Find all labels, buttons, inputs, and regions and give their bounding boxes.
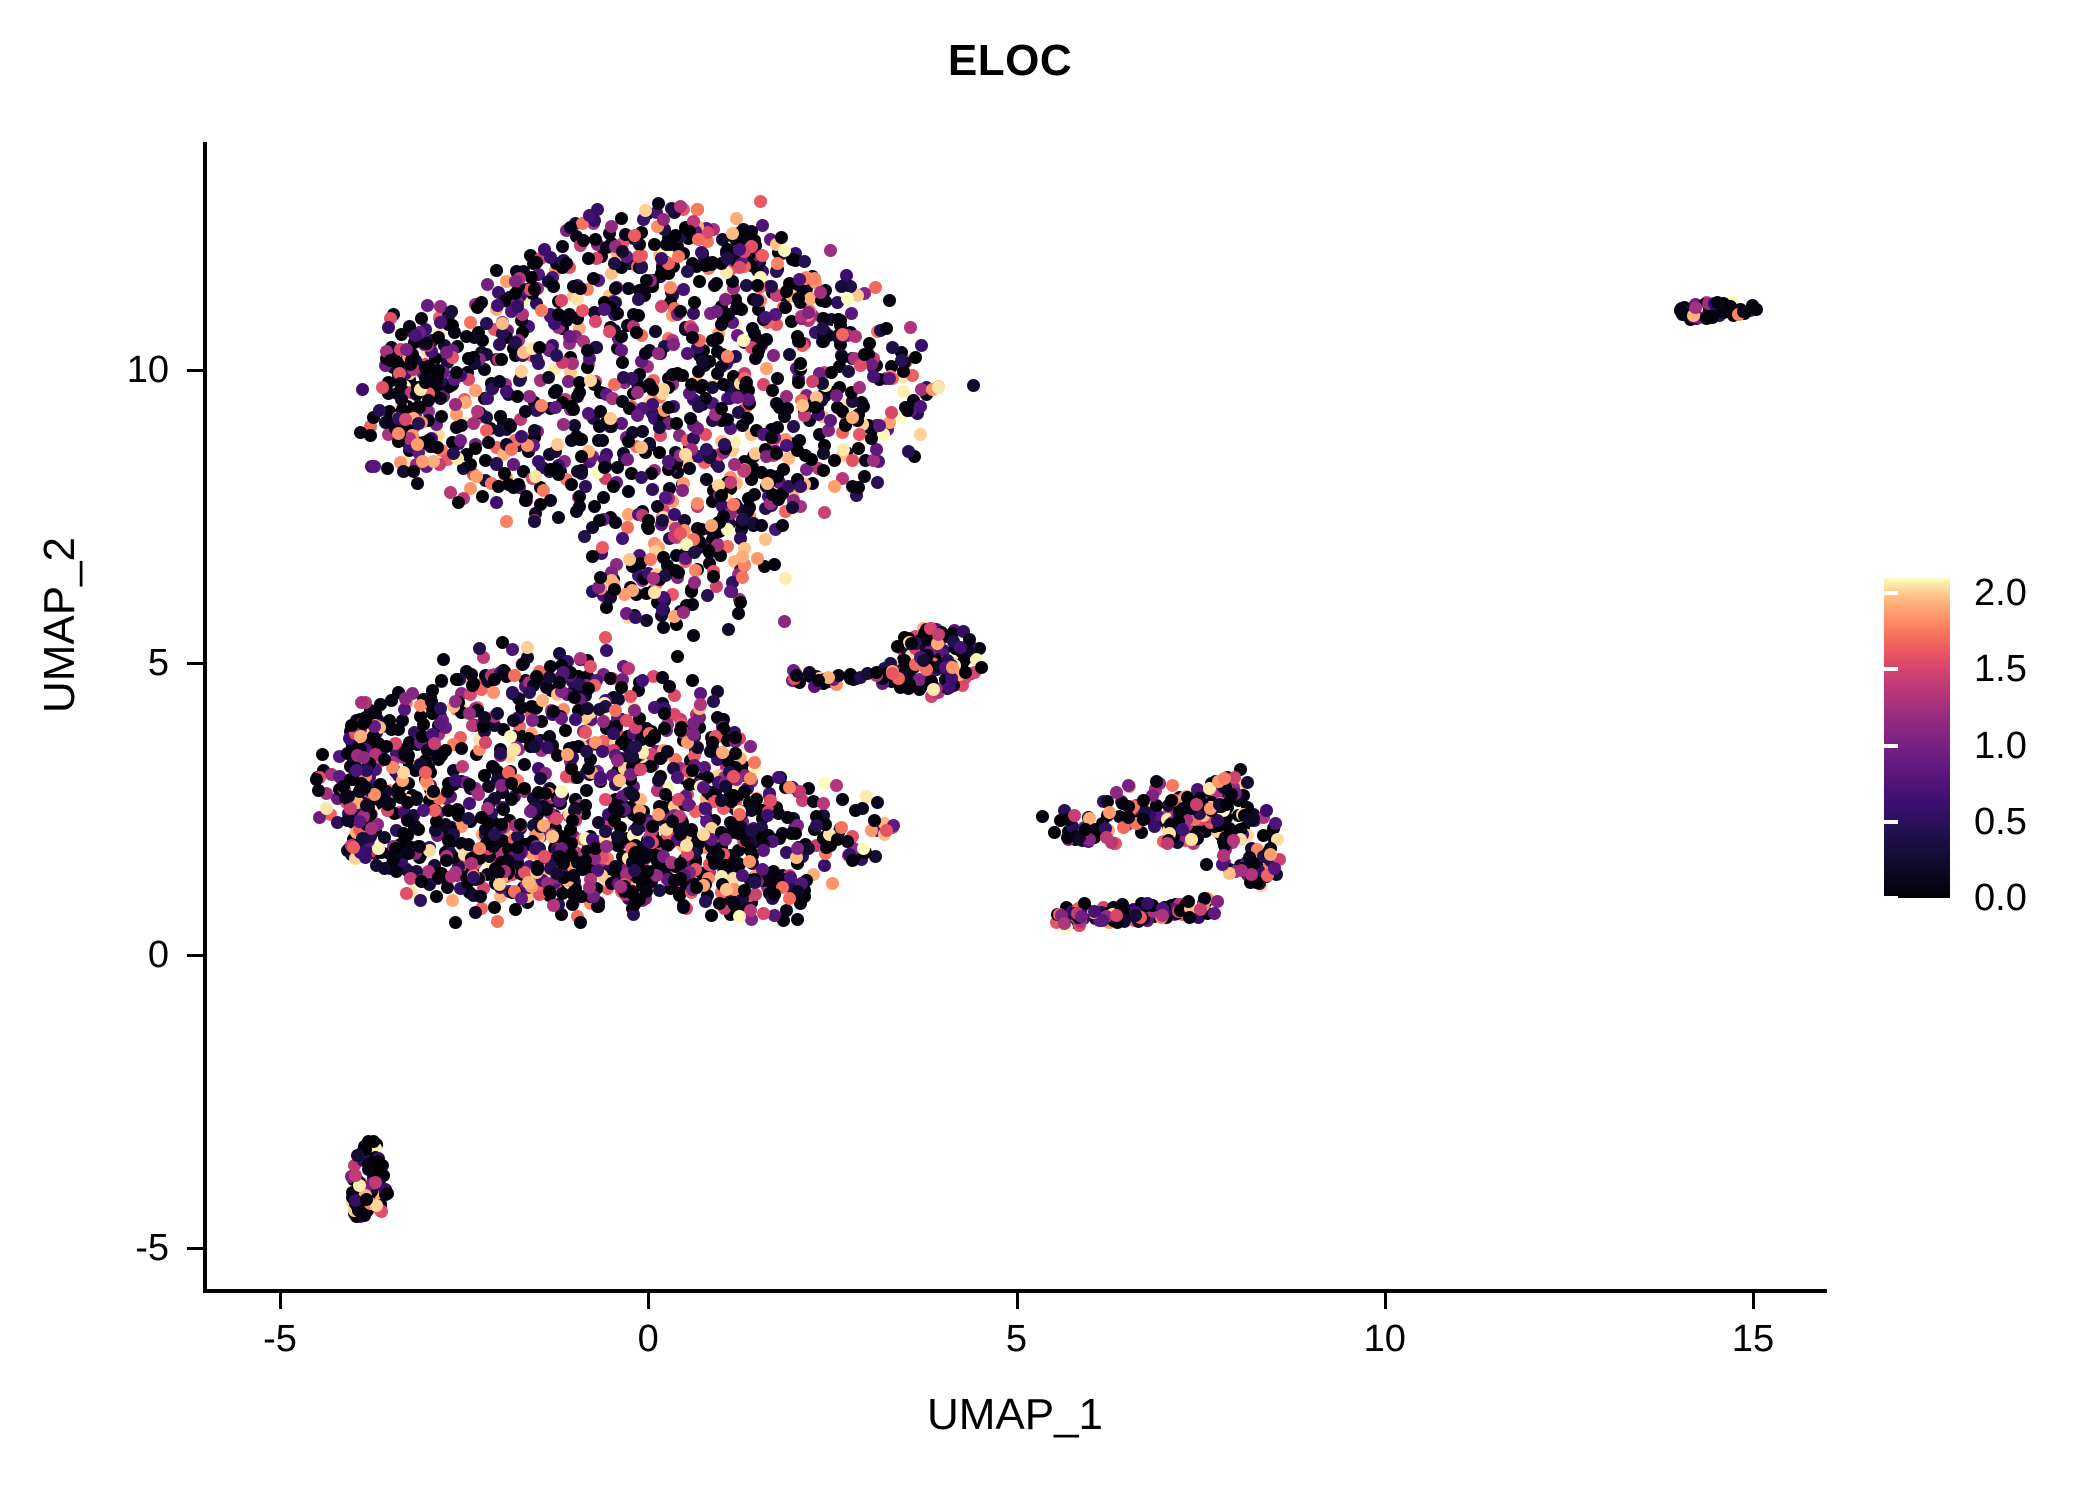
- scatter-point: [609, 516, 622, 529]
- scatter-point: [409, 329, 422, 342]
- scatter-point: [370, 859, 383, 872]
- scatter-point: [611, 754, 624, 767]
- scatter-point: [449, 695, 462, 708]
- scatter-point: [909, 351, 922, 364]
- scatter-point: [959, 666, 972, 679]
- scatter-point: [648, 729, 661, 742]
- scatter-point: [771, 257, 784, 270]
- y-axis-label: UMAP_2: [35, 285, 85, 965]
- scatter-point: [415, 312, 428, 325]
- colorbar-tick-mark: [1870, 744, 1884, 748]
- colorbar-tick-mark: [1870, 820, 1884, 824]
- scatter-point: [744, 740, 757, 753]
- scatter-point: [491, 915, 504, 928]
- scatter-point: [432, 364, 445, 377]
- scatter-point: [435, 410, 448, 423]
- scatter-point: [368, 460, 381, 473]
- scatter-point: [608, 257, 621, 270]
- scatter-point: [688, 296, 701, 309]
- scatter-point: [899, 401, 912, 414]
- colorbar-tick-mark: [1884, 744, 1898, 748]
- scatter-point: [469, 906, 482, 919]
- y-tick-mark: [187, 662, 203, 665]
- scatter-point: [564, 221, 577, 234]
- scatter-point: [504, 420, 517, 433]
- scatter-point: [818, 777, 831, 790]
- scatter-point: [1711, 296, 1724, 309]
- scatter-point: [646, 483, 659, 496]
- scatter-point: [828, 480, 841, 493]
- scatter-point: [736, 550, 749, 563]
- scatter-point: [455, 742, 468, 755]
- scatter-point: [636, 674, 649, 687]
- scatter-point: [669, 564, 682, 577]
- scatter-point: [710, 277, 723, 290]
- colorbar-tick-mark: [1884, 896, 1898, 900]
- scatter-point: [686, 331, 699, 344]
- scatter-point: [1706, 311, 1719, 324]
- scatter-point: [547, 280, 560, 293]
- scatter-point: [778, 615, 791, 628]
- scatter-point: [467, 871, 480, 884]
- colorbar-gradient: [1884, 578, 1950, 898]
- scatter-point: [870, 666, 883, 679]
- scatter-point: [359, 714, 372, 727]
- scatter-point: [863, 337, 876, 350]
- scatter-point: [434, 717, 447, 730]
- scatter-point: [347, 841, 360, 854]
- scatter-point: [766, 384, 779, 397]
- scatter-point: [384, 354, 397, 367]
- scatter-point: [538, 243, 551, 256]
- scatter-point: [616, 245, 629, 258]
- y-tick-mark: [187, 1247, 203, 1250]
- scatter-point: [622, 485, 635, 498]
- scatter-point: [932, 628, 945, 641]
- scatter-point: [341, 814, 354, 827]
- scatter-point: [655, 252, 668, 265]
- x-tick-mark: [1016, 1293, 1019, 1309]
- scatter-point: [528, 283, 541, 296]
- scatter-point: [628, 864, 641, 877]
- scatter-point: [609, 282, 622, 295]
- scatter-point: [567, 869, 580, 882]
- scatter-point: [880, 824, 893, 837]
- scatter-point: [775, 231, 788, 244]
- scatter-point: [437, 653, 450, 666]
- scatter-point: [399, 692, 412, 705]
- scatter-point: [767, 349, 780, 362]
- scatter-point: [493, 375, 506, 388]
- scatter-point: [674, 872, 687, 885]
- scatter-point: [1269, 817, 1282, 830]
- scatter-point: [628, 229, 641, 242]
- colorbar-tick-mark: [1884, 667, 1898, 671]
- x-tick-mark: [1752, 1293, 1755, 1309]
- scatter-point: [511, 300, 524, 313]
- scatter-point: [542, 371, 555, 384]
- scatter-point: [521, 641, 534, 654]
- scatter-point: [570, 505, 583, 518]
- scatter-point: [975, 661, 988, 674]
- x-tick-label: 10: [1305, 1320, 1465, 1358]
- scatter-point: [759, 311, 772, 324]
- scatter-point: [1058, 917, 1071, 930]
- scatter-point: [624, 690, 637, 703]
- scatter-point: [316, 748, 329, 761]
- scatter-point: [1079, 823, 1092, 836]
- scatter-point: [576, 304, 589, 317]
- scatter-point: [1247, 812, 1260, 825]
- scatter-point: [579, 480, 592, 493]
- scatter-point: [756, 249, 769, 262]
- scatter-point: [593, 703, 606, 716]
- scatter-point: [617, 371, 630, 384]
- scatter-point: [556, 240, 569, 253]
- scatter-point: [773, 401, 786, 414]
- scatter-point: [356, 383, 369, 396]
- scatter-point: [1054, 814, 1067, 827]
- scatter-point: [655, 300, 668, 313]
- colorbar-tick-mark: [1870, 896, 1884, 900]
- scatter-point: [692, 400, 705, 413]
- scatter-point: [567, 403, 580, 416]
- scatter-point: [793, 434, 806, 447]
- scatter-point: [435, 674, 448, 687]
- scatter-point: [599, 825, 612, 838]
- scatter-point: [733, 910, 746, 923]
- scatter-point: [569, 713, 582, 726]
- scatter-point: [598, 303, 611, 316]
- scatter-point: [657, 213, 670, 226]
- scatter-point: [310, 773, 323, 786]
- scatter-point: [449, 916, 462, 929]
- scatter-point: [732, 607, 745, 620]
- scatter-point: [1129, 909, 1142, 922]
- scatter-point: [571, 390, 584, 403]
- scatter-point: [1674, 304, 1687, 317]
- scatter-point: [506, 686, 519, 699]
- scatter-point: [706, 334, 719, 347]
- scatter-point: [381, 462, 394, 475]
- scatter-point: [739, 380, 752, 393]
- scatter-point: [842, 365, 855, 378]
- scatter-point: [1036, 810, 1049, 823]
- scatter-point: [541, 741, 554, 754]
- scatter-point: [599, 631, 612, 644]
- scatter-point: [686, 764, 699, 777]
- scatter-point: [456, 760, 469, 773]
- scatter-point: [705, 909, 718, 922]
- scatter-point: [597, 491, 610, 504]
- scatter-point: [759, 533, 772, 546]
- scatter-point: [662, 401, 675, 414]
- scatter-point: [904, 321, 917, 334]
- scatter-point: [344, 802, 357, 815]
- scatter-point: [707, 695, 720, 708]
- x-tick-label: -5: [200, 1320, 360, 1358]
- scatter-point: [613, 774, 626, 787]
- scatter-point: [751, 552, 764, 565]
- scatter-point: [765, 431, 778, 444]
- scatter-point: [442, 804, 455, 817]
- scatter-point: [954, 641, 967, 654]
- scatter-point: [411, 438, 424, 451]
- scatter-point: [505, 443, 518, 456]
- scatter-point: [817, 464, 830, 477]
- scatter-point: [574, 916, 587, 929]
- scatter-point: [710, 305, 723, 318]
- scatter-point: [634, 763, 647, 776]
- scatter-point: [733, 261, 746, 274]
- scatter-point: [640, 274, 653, 287]
- scatter-point: [697, 781, 710, 794]
- scatter-point: [531, 863, 544, 876]
- scatter-point: [736, 513, 749, 526]
- scatter-point: [435, 749, 448, 762]
- scatter-point: [783, 348, 796, 361]
- scatter-point: [526, 714, 539, 727]
- scatter-point: [852, 442, 865, 455]
- scatter-point: [544, 494, 557, 507]
- scatter-point: [491, 707, 504, 720]
- scatter-point: [846, 854, 859, 867]
- scatter-point: [1068, 809, 1081, 822]
- scatter-point: [524, 805, 537, 818]
- scatter-point: [473, 842, 486, 855]
- scatter-point: [914, 400, 927, 413]
- scatter-point: [806, 375, 819, 388]
- scatter-point: [400, 887, 413, 900]
- scatter-point: [553, 676, 566, 689]
- scatter-point: [496, 317, 509, 330]
- scatter-point: [914, 428, 927, 441]
- scatter-point: [635, 471, 648, 484]
- scatter-point: [490, 496, 503, 509]
- scatter-point: [600, 644, 613, 657]
- scatter-point: [751, 294, 764, 307]
- scatter-point: [1220, 798, 1233, 811]
- scatter-point: [570, 430, 583, 443]
- scatter-point: [597, 715, 610, 728]
- scatter-plot-figure: ELOC -50510 -5051015 UMAP_1 UMAP_2 2.01.…: [0, 0, 2100, 1500]
- scatter-point: [358, 782, 371, 795]
- scatter-point: [768, 558, 781, 571]
- scatter-point: [717, 378, 730, 391]
- scatter-point: [699, 895, 712, 908]
- scatter-point: [607, 727, 620, 740]
- scatter-point: [571, 465, 584, 478]
- colorbar-tick-label: 1.5: [1974, 650, 2100, 688]
- scatter-point: [556, 887, 569, 900]
- scatter-point: [647, 572, 660, 585]
- scatter-point: [652, 197, 665, 210]
- colorbar-tick-mark: [1884, 820, 1898, 824]
- scatter-point: [712, 460, 725, 473]
- scatter-point: [798, 255, 811, 268]
- scatter-point: [648, 586, 661, 599]
- scatter-point: [615, 330, 628, 343]
- scatter-point: [509, 275, 522, 288]
- scatter-point: [528, 740, 541, 753]
- scatter-point: [565, 478, 578, 491]
- scatter-point: [688, 546, 701, 559]
- scatter-point: [575, 450, 588, 463]
- scatter-point: [578, 530, 591, 543]
- scatter-point: [756, 863, 769, 876]
- scatter-point: [495, 353, 508, 366]
- x-tick-mark: [647, 1293, 650, 1309]
- scatter-point: [883, 372, 896, 385]
- scatter-point: [600, 840, 613, 853]
- scatter-point: [664, 281, 677, 294]
- scatter-point: [488, 828, 501, 841]
- scatter-point: [727, 498, 740, 511]
- scatter-point: [421, 299, 434, 312]
- scatter-point: [596, 745, 609, 758]
- scatter-point: [632, 250, 645, 263]
- scatter-point: [1211, 895, 1224, 908]
- scatter-point: [812, 674, 825, 687]
- scatter-point: [549, 401, 562, 414]
- scatter-point: [830, 779, 843, 792]
- scatter-point: [467, 417, 480, 430]
- scatter-point: [582, 682, 595, 695]
- scatter-point: [480, 424, 493, 437]
- scatter-point: [535, 399, 548, 412]
- scatter-point: [1200, 858, 1213, 871]
- scatter-point: [560, 257, 573, 270]
- scatter-point: [794, 357, 807, 370]
- scatter-point: [532, 357, 545, 370]
- scatter-point: [632, 293, 645, 306]
- scatter-point: [796, 399, 809, 412]
- scatter-point: [449, 398, 462, 411]
- x-tick-label: 0: [568, 1320, 728, 1358]
- scatter-point: [687, 629, 700, 642]
- scatter-point: [478, 711, 491, 724]
- scatter-point: [674, 305, 687, 318]
- scatter-point: [760, 362, 773, 375]
- scatter-point: [677, 283, 690, 296]
- scatter-point: [449, 774, 462, 787]
- scatter-point: [1110, 786, 1123, 799]
- scatter-point: [609, 704, 622, 717]
- colorbar-tick-label: 0.0: [1974, 879, 2100, 917]
- scatter-point: [511, 390, 524, 403]
- scatter-point: [493, 338, 506, 351]
- scatter-point: [593, 420, 606, 433]
- scatter-point: [584, 374, 597, 387]
- scatter-point: [880, 322, 893, 335]
- scatter-point: [772, 493, 785, 506]
- scatter-point: [462, 812, 475, 825]
- scatter-point: [787, 420, 800, 433]
- y-axis-line: [203, 142, 207, 1293]
- scatter-point: [354, 730, 367, 743]
- x-tick-mark: [1384, 1293, 1387, 1309]
- scatter-point: [706, 736, 719, 749]
- scatter-point: [552, 308, 565, 321]
- scatter-point: [490, 264, 503, 277]
- scatter-point: [551, 438, 564, 451]
- scatter-point: [832, 313, 845, 326]
- scatter-point: [518, 758, 531, 771]
- scatter-point: [1141, 897, 1154, 910]
- scatter-point: [373, 404, 386, 417]
- scatter-point: [639, 204, 652, 217]
- scatter-point: [715, 794, 728, 807]
- scatter-point: [1241, 776, 1254, 789]
- scatter-point: [401, 796, 414, 809]
- scatter-point: [1264, 848, 1277, 861]
- scatter-point: [641, 865, 654, 878]
- scatter-point: [696, 355, 709, 368]
- scatter-point: [528, 424, 541, 437]
- scatter-point: [404, 358, 417, 371]
- scatter-point: [1048, 826, 1061, 839]
- scatter-point: [1208, 907, 1221, 920]
- scatter-point: [598, 461, 611, 474]
- scatter-point: [557, 418, 570, 431]
- scatter-point: [515, 365, 528, 378]
- scatter-point: [339, 791, 352, 804]
- scatter-point: [837, 443, 850, 456]
- scatter-point: [728, 458, 741, 471]
- scatter-point: [446, 894, 459, 907]
- scatter-point: [691, 497, 704, 510]
- scatter-point: [883, 294, 896, 307]
- scatter-point: [320, 802, 333, 815]
- scatter-point: [479, 736, 492, 749]
- scatter-point: [372, 1155, 385, 1168]
- scatter-point: [871, 476, 884, 489]
- colorbar-tick-label: 2.0: [1974, 574, 2100, 612]
- scatter-point: [856, 802, 869, 815]
- scatter-point: [783, 781, 796, 794]
- scatter-point: [1150, 775, 1163, 788]
- scatter-point: [369, 1176, 382, 1189]
- scatter-point: [820, 841, 833, 854]
- scatter-point: [853, 381, 866, 394]
- scatter-point: [681, 265, 694, 278]
- scatter-point: [715, 489, 728, 502]
- scatter-point: [506, 643, 519, 656]
- scatter-point: [462, 352, 475, 365]
- scatter-point: [841, 292, 854, 305]
- scatter-point: [611, 307, 624, 320]
- scatter-point: [743, 855, 756, 868]
- scatter-point: [754, 195, 767, 208]
- scatter-point: [778, 244, 791, 257]
- scatter-point: [470, 470, 483, 483]
- scatter-point: [693, 275, 706, 288]
- scatter-point: [768, 909, 781, 922]
- scatter-point: [519, 405, 532, 418]
- scatter-point: [867, 454, 880, 467]
- scatter-point: [605, 220, 618, 233]
- scatter-point: [712, 848, 725, 861]
- scatter-point: [748, 756, 761, 769]
- scatter-point: [493, 878, 506, 891]
- scatter-point: [915, 339, 928, 352]
- scatter-point: [836, 793, 849, 806]
- scatter-point: [670, 417, 683, 430]
- scatter-point: [398, 746, 411, 759]
- scatter-point: [1148, 820, 1161, 833]
- scatter-point: [644, 553, 657, 566]
- scatter-point: [836, 328, 849, 341]
